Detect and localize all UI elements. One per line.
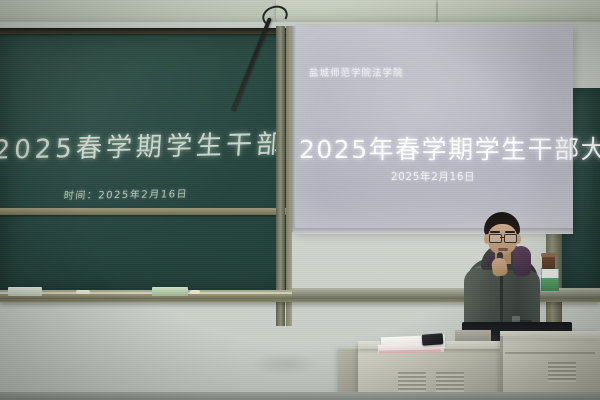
board-track-rail-center bbox=[276, 26, 285, 326]
glasses-bridge-icon bbox=[500, 237, 504, 238]
projection-screen-left-edge bbox=[291, 26, 296, 232]
blackboard-middle-rail bbox=[0, 208, 292, 215]
projector-screen-housing-left bbox=[276, 0, 436, 24]
chalk-stick-two bbox=[190, 290, 200, 294]
floor-baseboard bbox=[0, 392, 600, 400]
slide-title-text: 2025年春学期学生干部大会 bbox=[299, 130, 600, 166]
speaker-scarf bbox=[513, 246, 531, 276]
small-green-box bbox=[541, 268, 559, 292]
classroom-photo-scene: 2025春学期学生干部会议 时间：2025年2月16日 盐城师范学院法学院 20… bbox=[0, 0, 600, 400]
speaker-mouth bbox=[498, 248, 508, 251]
eraser-center bbox=[152, 287, 188, 296]
brown-cup-lid bbox=[541, 253, 556, 257]
cabinet-vent-three bbox=[548, 362, 576, 382]
projection-screen-bottom-bar bbox=[293, 228, 573, 234]
cabinet-vent-one bbox=[398, 372, 426, 392]
podium-cabinet-right-top bbox=[500, 331, 600, 339]
projection-screen-glow bbox=[293, 26, 573, 232]
mobile-phone bbox=[422, 333, 444, 345]
slide-date-text: 2025年2月16日 bbox=[293, 169, 573, 184]
glasses-lens-left-icon bbox=[489, 234, 502, 243]
speaker-eyebrow-right bbox=[505, 231, 515, 233]
speaker-hand bbox=[491, 257, 508, 277]
brown-cup bbox=[542, 255, 555, 269]
speaker-eyebrow-left bbox=[490, 231, 500, 233]
eraser-left bbox=[8, 287, 42, 296]
blackboard-top-rail bbox=[0, 28, 292, 34]
cabinet-vent-two bbox=[436, 372, 464, 392]
blackboard-subline: 时间：2025年2月16日 bbox=[63, 185, 189, 202]
cabinet-right-seam bbox=[505, 352, 595, 354]
chalk-stick-one bbox=[76, 290, 90, 294]
wall-smudge bbox=[250, 352, 320, 376]
slide-organization-text: 盐城师范学院法学院 bbox=[309, 65, 404, 79]
projector-screen-housing-right bbox=[438, 0, 600, 24]
glasses-lens-right-icon bbox=[504, 234, 517, 243]
cabinet-right-edge bbox=[500, 336, 503, 400]
